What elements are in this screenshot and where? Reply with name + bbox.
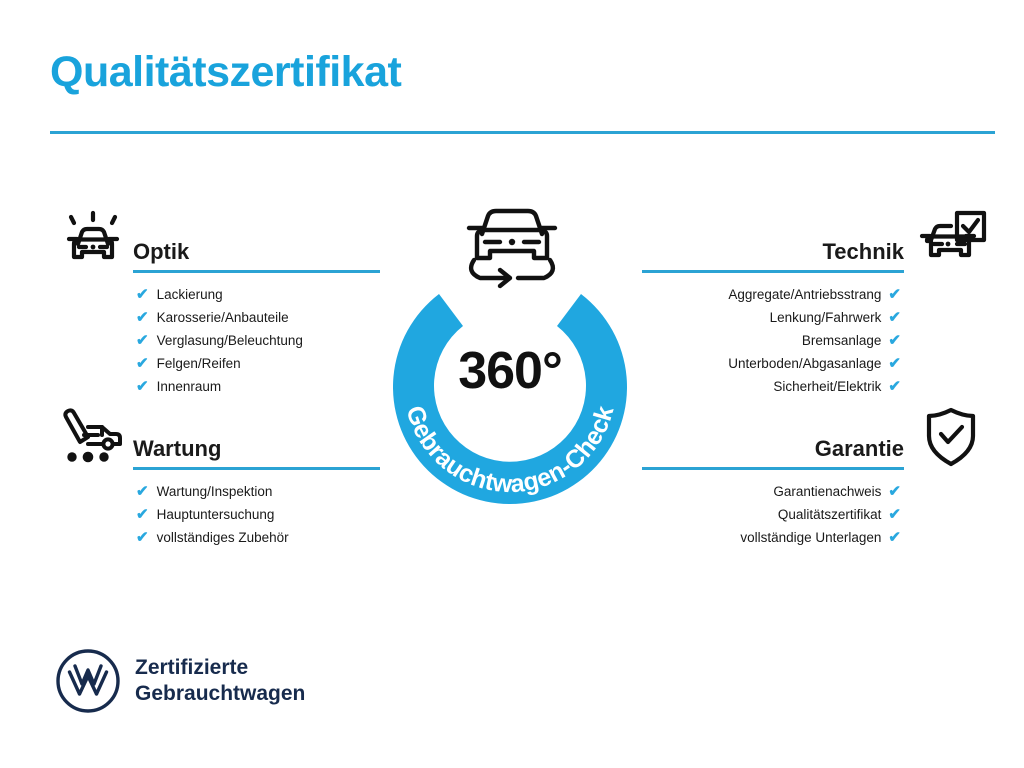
list-item-label: Karosserie/Anbauteile — [157, 311, 289, 325]
list-item-label: Unterboden/Abgasanlage — [728, 357, 881, 371]
list-item: Aggregate/Antriebsstrang ✔ — [634, 283, 901, 306]
list-item: ✔ Karosserie/Anbauteile — [136, 306, 390, 329]
section-header-optik: Optik — [50, 205, 390, 283]
list-item: ✔ Verglasung/Beleuchtung — [136, 329, 390, 352]
check-icon: ✔ — [888, 310, 901, 325]
check-list-garantie: Garantienachweis ✔ Qualitätszertifikat ✔… — [634, 480, 994, 549]
shield-check-icon — [908, 402, 994, 472]
section-header-garantie: Garantie — [634, 402, 994, 480]
list-item-label: Hauptuntersuchung — [157, 508, 275, 522]
list-item: Qualitätszertifikat ✔ — [634, 503, 901, 526]
check-icon: ✔ — [888, 530, 901, 545]
list-item-label: Verglasung/Beleuchtung — [157, 334, 303, 348]
section-wartung: Wartung ✔ Wartung/Inspektion ✔ Hauptunte… — [50, 402, 390, 549]
list-item: Garantienachweis ✔ — [634, 480, 901, 503]
list-item-label: Sicherheit/Elektrik — [773, 380, 881, 394]
list-item-label: Garantienachweis — [773, 485, 881, 499]
list-item-label: Bremsanlage — [802, 334, 882, 348]
list-item: ✔ Felgen/Reifen — [136, 352, 390, 375]
section-title-technik: Technik — [822, 239, 904, 265]
section-divider-technik — [642, 270, 904, 273]
list-item: ✔ Hauptuntersuchung — [136, 503, 390, 526]
list-item-label: Lackierung — [157, 288, 223, 302]
list-item: Sicherheit/Elektrik ✔ — [634, 375, 901, 398]
section-optik: Optik ✔ Lackierung ✔ Karosserie/Anbautei… — [50, 205, 390, 398]
list-item: ✔ vollständiges Zubehör — [136, 526, 390, 549]
section-divider-optik — [133, 270, 380, 273]
footer-branding: Zertifizierte Gebrauchtwagen — [55, 648, 305, 714]
check-icon: ✔ — [136, 530, 149, 545]
check-icon: ✔ — [888, 333, 901, 348]
section-header-technik: Technik — [634, 205, 994, 283]
list-item: vollständige Unterlagen ✔ — [634, 526, 901, 549]
footer-line-1: Zertifizierte — [135, 655, 305, 681]
list-item-label: Innenraum — [157, 380, 222, 394]
list-item-label: Qualitätszertifikat — [778, 508, 882, 522]
check-icon: ✔ — [888, 356, 901, 371]
list-item: ✔ Innenraum — [136, 375, 390, 398]
footer-text: Zertifizierte Gebrauchtwagen — [135, 655, 305, 706]
check-list-optik: ✔ Lackierung ✔ Karosserie/Anbauteile ✔ V… — [50, 283, 390, 398]
check-list-technik: Aggregate/Antriebsstrang ✔ Lenkung/Fahrw… — [634, 283, 994, 398]
check-icon: ✔ — [136, 484, 149, 499]
car-checkbox-icon — [908, 205, 994, 275]
check-icon: ✔ — [136, 379, 149, 394]
check-icon: ✔ — [888, 287, 901, 302]
footer-line-2: Gebrauchtwagen — [135, 681, 305, 707]
title-divider — [50, 131, 995, 134]
list-item: Bremsanlage ✔ — [634, 329, 901, 352]
check-icon: ✔ — [136, 356, 149, 371]
car-service-pen-icon — [50, 402, 136, 472]
check-icon: ✔ — [888, 484, 901, 499]
section-technik: Technik Aggregate/Antriebsstrang ✔ Lenku… — [634, 205, 994, 398]
list-item-label: vollständiges Zubehör — [157, 531, 289, 545]
badge-value: 360° — [377, 341, 643, 401]
check-icon: ✔ — [136, 287, 149, 302]
section-garantie: Garantie Garantienachweis ✔ Qualitätszer… — [634, 402, 994, 549]
vw-logo-icon — [55, 648, 121, 714]
list-item: Lenkung/Fahrwerk ✔ — [634, 306, 901, 329]
section-title-wartung: Wartung — [133, 436, 221, 462]
car-shine-icon — [50, 205, 136, 275]
section-header-wartung: Wartung — [50, 402, 390, 480]
list-item-label: Wartung/Inspektion — [157, 485, 273, 499]
certificate-page: Qualitätszertifikat — [0, 0, 1024, 768]
section-divider-garantie — [642, 467, 904, 470]
page-title: Qualitätszertifikat — [50, 48, 401, 97]
check-icon: ✔ — [136, 507, 149, 522]
list-item-label: Lenkung/Fahrwerk — [770, 311, 882, 325]
list-item: Unterboden/Abgasanlage ✔ — [634, 352, 901, 375]
check-list-wartung: ✔ Wartung/Inspektion ✔ Hauptuntersuchung… — [50, 480, 390, 549]
list-item: ✔ Wartung/Inspektion — [136, 480, 390, 503]
check-icon: ✔ — [888, 379, 901, 394]
check-icon: ✔ — [888, 507, 901, 522]
section-title-optik: Optik — [133, 239, 189, 265]
section-divider-wartung — [133, 467, 380, 470]
list-item-label: Felgen/Reifen — [157, 357, 241, 371]
list-item-label: Aggregate/Antriebsstrang — [728, 288, 881, 302]
check-icon: ✔ — [136, 333, 149, 348]
check-icon: ✔ — [136, 310, 149, 325]
car-rotate-icon — [452, 198, 572, 298]
list-item: ✔ Lackierung — [136, 283, 390, 306]
section-title-garantie: Garantie — [815, 436, 904, 462]
list-item-label: vollständige Unterlagen — [740, 531, 881, 545]
